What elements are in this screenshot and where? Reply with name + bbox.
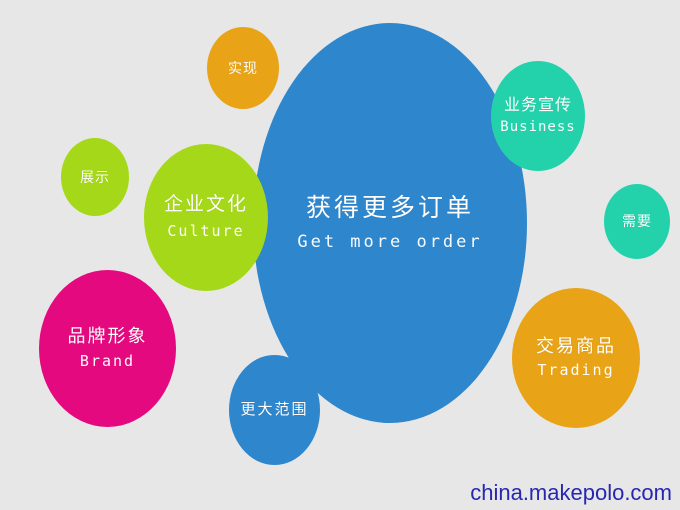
bubble-main-label-cn: 获得更多订单 [306, 194, 474, 224]
bubble-realize-label-cn: 实现 [228, 60, 258, 77]
bubble-main-label-en: Get more order [297, 232, 482, 252]
bubble-culture: 企业文化 Culture [144, 144, 268, 291]
bubble-culture-label-cn: 企业文化 [164, 194, 248, 216]
bubble-trading: 交易商品 Trading [512, 288, 640, 428]
bubble-culture-label-en: Culture [167, 223, 244, 241]
bubble-business: 业务宣传 Business [491, 61, 585, 171]
bubble-trading-label-cn: 交易商品 [536, 336, 616, 357]
bubble-trading-label-en: Trading [537, 362, 614, 380]
bubble-brand-label-en: Brand [80, 353, 135, 371]
bubble-larger-scope: 更大范围 [229, 355, 320, 465]
bubble-brand-label-cn: 品牌形象 [68, 326, 148, 347]
bubble-business-label-en: Business [500, 119, 575, 136]
bubble-display-label-cn: 展示 [80, 169, 110, 186]
infographic-canvas: 获得更多订单 Get more order 企业文化 Culture 品牌形象 … [0, 0, 680, 510]
watermark-text: china.makepolo.com [470, 480, 672, 506]
bubble-realize: 实现 [207, 27, 279, 109]
bubble-brand: 品牌形象 Brand [39, 270, 176, 427]
bubble-business-label-cn: 业务宣传 [504, 97, 572, 116]
bubble-display: 展示 [61, 138, 129, 216]
bubble-scope-label-cn: 更大范围 [240, 401, 308, 419]
bubble-need: 需要 [604, 184, 670, 259]
bubble-need-label-cn: 需要 [622, 213, 652, 230]
